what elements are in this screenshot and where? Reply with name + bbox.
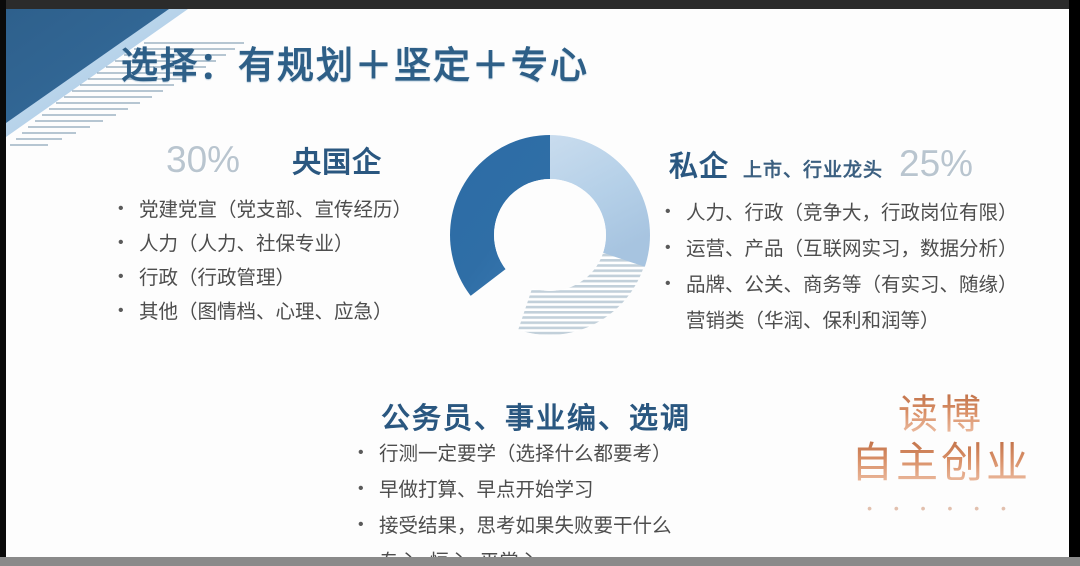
list-item: 其他（图情档、心理、应急） [114, 295, 412, 329]
list-item: 接受结果，思考如果失败要干什么 [354, 508, 672, 544]
donut-chart [444, 129, 656, 341]
player-right-edge [1069, 0, 1080, 566]
bottom-bullet-list: 行测一定要学（选择什么都要考） 早做打算、早点开始学习 接受结果，思考如果失败要… [354, 436, 672, 557]
list-item: 行测一定要学（选择什么都要考） [354, 436, 672, 472]
list-item: 品牌、公关、商务等（有实习、随缘） [661, 267, 1018, 303]
list-item: 运营、产品（互联网实习，数据分析） [661, 231, 1018, 267]
left-group-heading: 30% 央国企 [166, 139, 382, 181]
list-item: 人力（人力、社保专业） [114, 227, 412, 261]
right-percent-label: 25% [899, 143, 973, 185]
video-player-frame: 选择：有规划＋坚定＋专心 30% 央国企 党建党宣（党支部、宣传经历） 人力（人… [0, 0, 1080, 566]
list-item: 专心+恒心+平常心 [354, 544, 672, 557]
orange-text-block: 读博 自主创业 • • • • • • [851, 392, 1031, 516]
orange-line-2: 自主创业 [851, 438, 1031, 488]
right-group-heading: 私企 上市、行业龙头 25% [669, 143, 973, 185]
presentation-slide: 选择：有规划＋坚定＋专心 30% 央国企 党建党宣（党支部、宣传经历） 人力（人… [6, 9, 1069, 557]
right-bullet-list: 人力、行政（竞争大，行政岗位有限） 运营、产品（互联网实习，数据分析） 品牌、公… [661, 195, 1018, 339]
left-category-label: 央国企 [292, 139, 382, 181]
slide-title: 选择：有规划＋坚定＋专心 [121, 35, 589, 89]
orange-dots: • • • • • • [851, 500, 1031, 516]
left-bullet-list: 党建党宣（党支部、宣传经历） 人力（人力、社保专业） 行政（行政管理） 其他（图… [114, 193, 412, 329]
bottom-group-heading: 公务员、事业编、选调 [381, 395, 691, 437]
list-item: 早做打算、早点开始学习 [354, 472, 672, 508]
list-item: 人力、行政（竞争大，行政岗位有限） [661, 195, 1018, 231]
right-category-label: 私企 [669, 143, 729, 185]
player-top-bar [0, 0, 1080, 9]
right-category-sub-label: 上市、行业龙头 [743, 155, 883, 182]
orange-line-1: 读博 [851, 392, 1031, 438]
list-item: 党建党宣（党支部、宣传经历） [114, 193, 412, 227]
player-bottom-bar [0, 557, 1080, 566]
left-percent-label: 30% [166, 139, 240, 181]
list-item-continuation: 营销类（华润、保利和润等） [661, 303, 1018, 339]
list-item: 行政（行政管理） [114, 261, 412, 295]
